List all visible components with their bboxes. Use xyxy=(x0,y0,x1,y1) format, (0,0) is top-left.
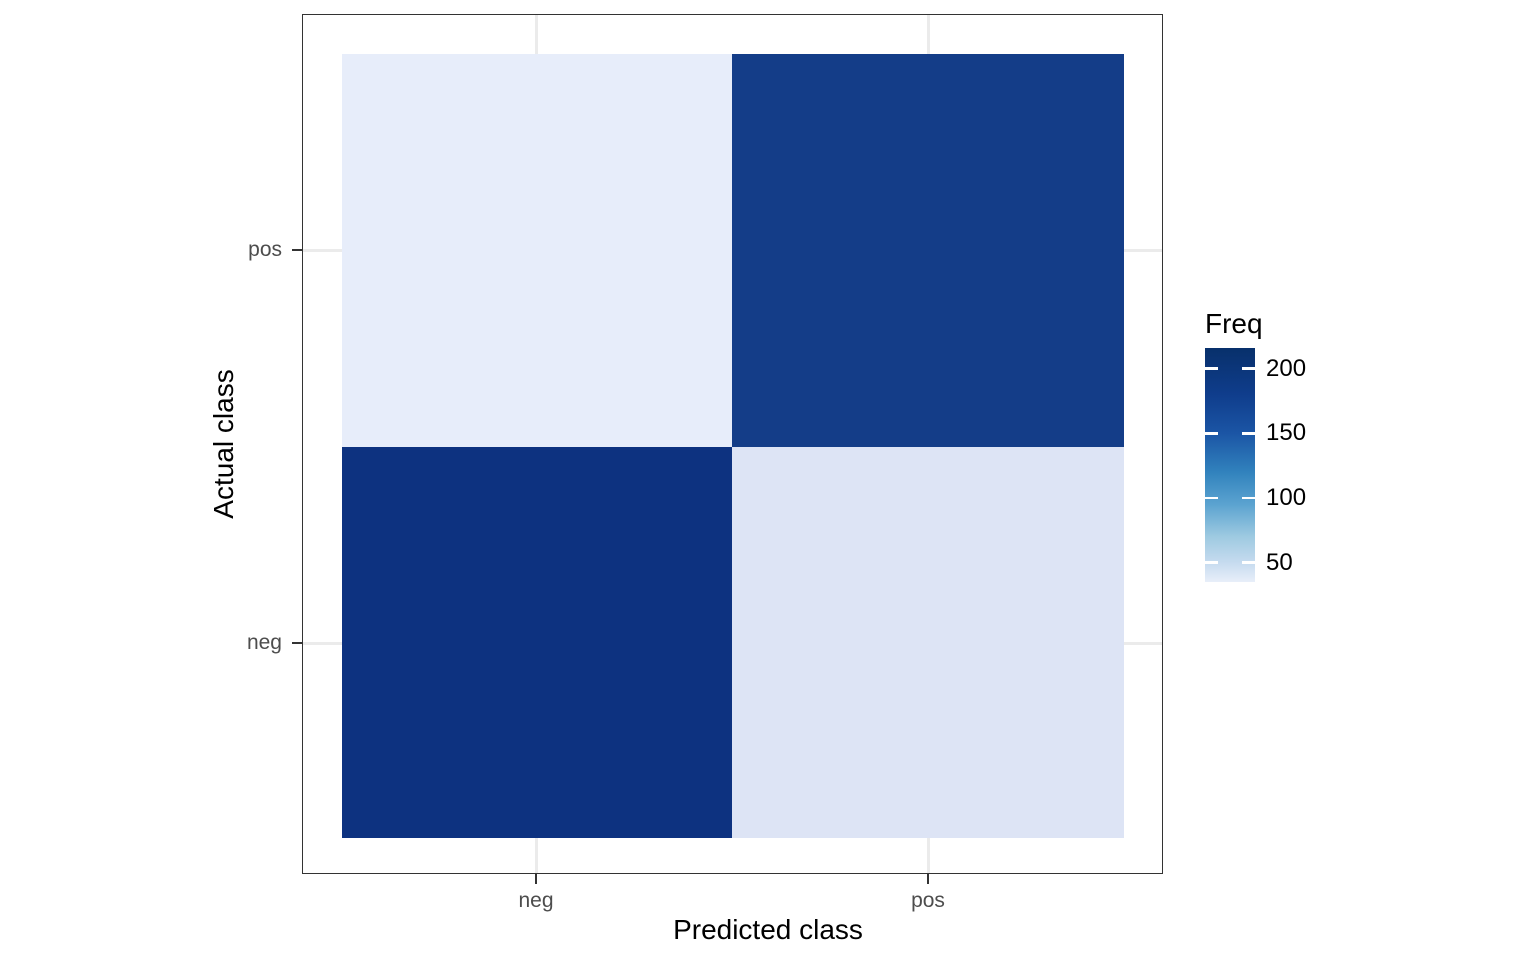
x-tick-label-pos: pos xyxy=(911,889,945,913)
chart-root: pos neg Actual class neg pos Predicted c… xyxy=(0,0,1536,960)
y-tick-mark-neg xyxy=(292,642,302,644)
y-axis-title: Actual class xyxy=(208,369,240,518)
x-axis-title: Predicted class xyxy=(673,914,863,946)
plot-panel xyxy=(302,14,1163,874)
legend-tick-mark-200-right xyxy=(1242,367,1255,370)
legend-tick-mark-50-right xyxy=(1242,561,1255,564)
heatmap-cell-actual-pos-predicted-pos xyxy=(732,54,1124,447)
plot-panel-inner xyxy=(303,15,1162,873)
legend-tick-label-100: 100 xyxy=(1266,484,1306,512)
legend-tick-label-50: 50 xyxy=(1266,549,1293,577)
x-tick-mark-neg xyxy=(535,874,537,884)
legend-tick-mark-200-left xyxy=(1205,367,1218,370)
legend-tick-mark-150-right xyxy=(1242,432,1255,435)
heatmap-cell-actual-neg-predicted-neg xyxy=(342,447,732,838)
legend-tick-mark-100-left xyxy=(1205,497,1218,500)
legend-tick-label-150: 150 xyxy=(1266,419,1306,447)
legend-tick-mark-100-right xyxy=(1242,497,1255,500)
heatmap-cell-actual-neg-predicted-pos xyxy=(732,447,1124,838)
y-tick-label-pos: pos xyxy=(170,238,282,262)
legend-title: Freq xyxy=(1205,308,1263,340)
y-tick-label-neg: neg xyxy=(170,631,282,655)
x-tick-mark-pos xyxy=(927,874,929,884)
heatmap-cell-actual-pos-predicted-neg xyxy=(342,54,732,447)
x-axis-title-wrap: Predicted class xyxy=(0,914,1536,946)
legend-gradient xyxy=(1205,348,1255,582)
legend-tick-mark-150-left xyxy=(1205,432,1218,435)
y-tick-mark-pos xyxy=(292,249,302,251)
x-tick-label-neg: neg xyxy=(518,889,553,913)
legend-tick-label-200: 200 xyxy=(1266,355,1306,383)
legend-tick-mark-50-left xyxy=(1205,561,1218,564)
legend-colorbar xyxy=(1205,348,1255,582)
